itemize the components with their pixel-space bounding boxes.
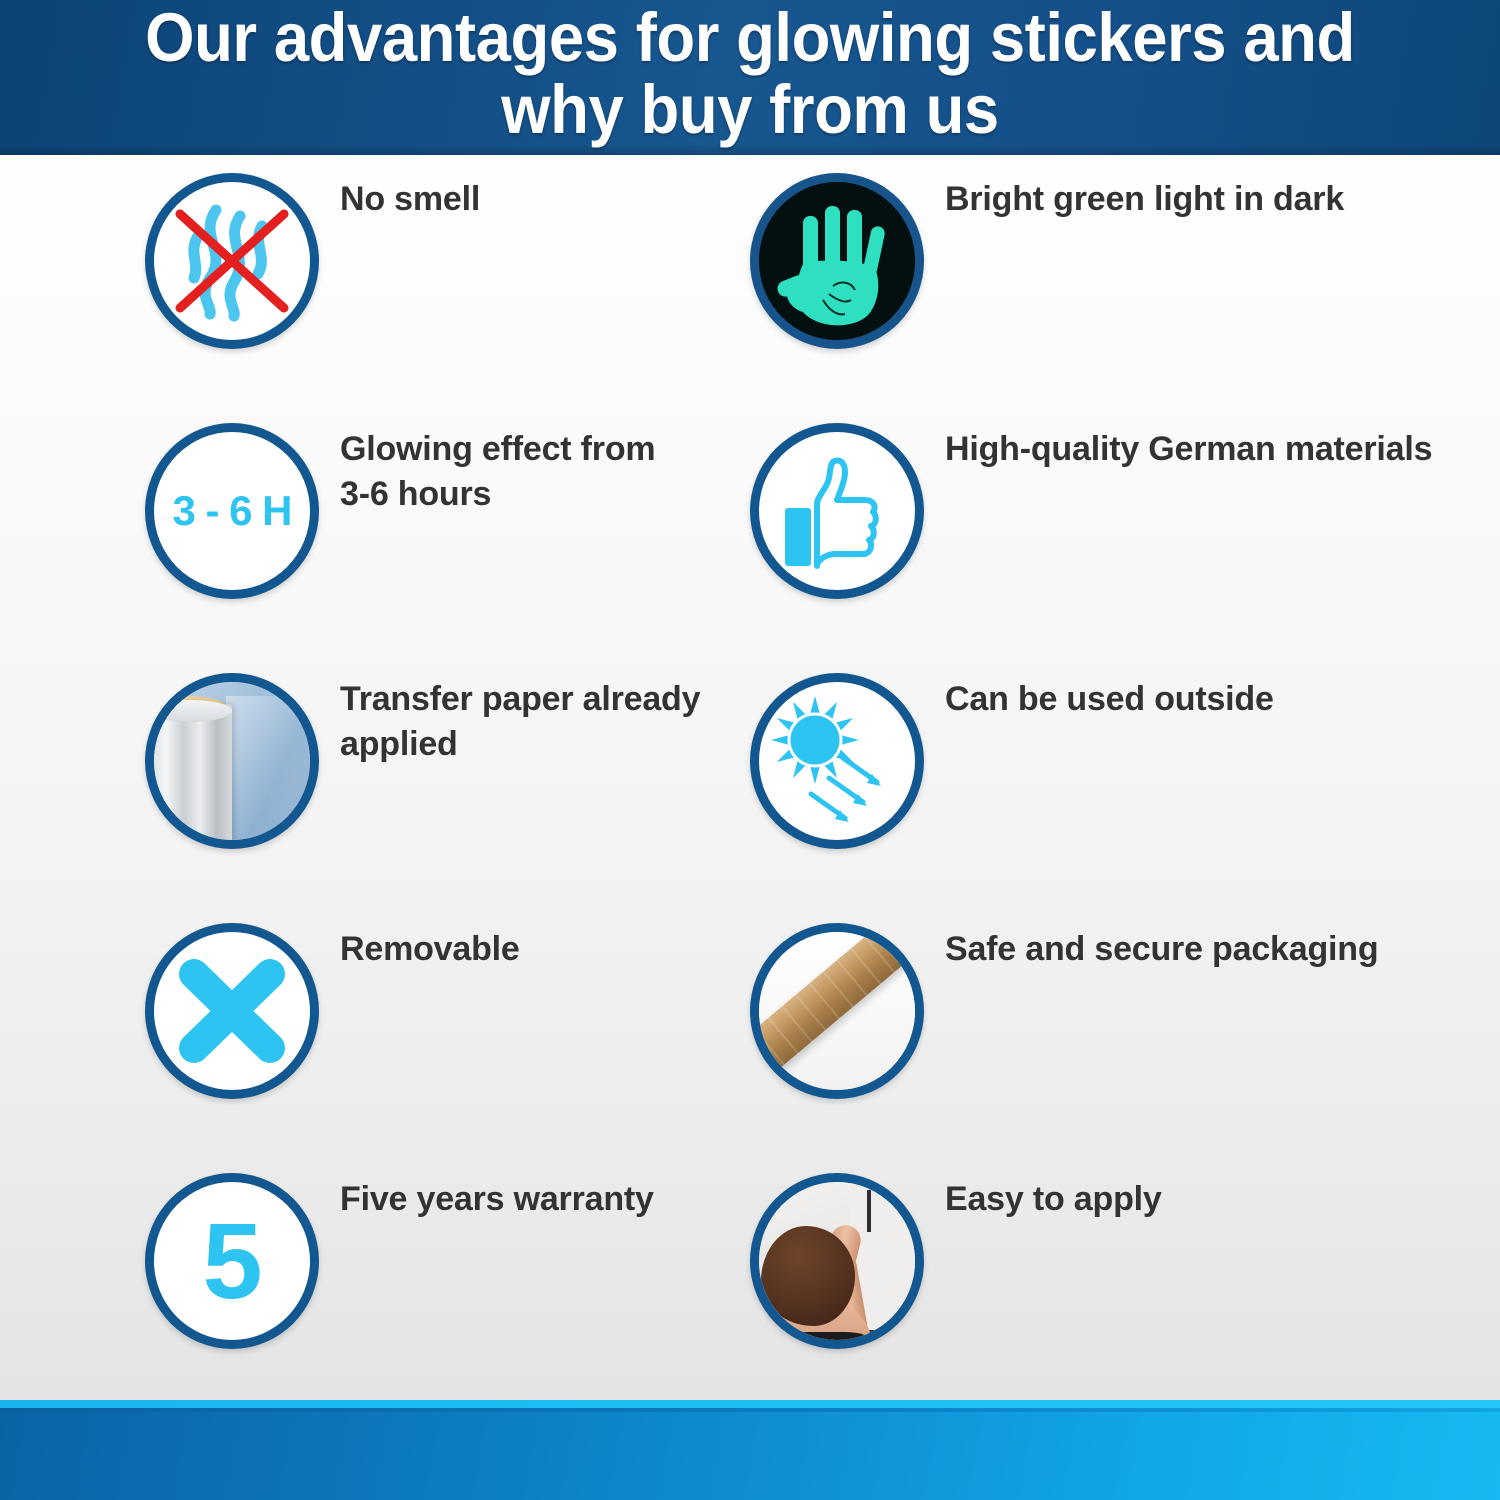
advantage-item-five-years-warranty: 5 Five years warranty bbox=[145, 1155, 845, 1405]
advantage-item-german-materials: High-quality German materials bbox=[750, 405, 1450, 655]
header-banner: Our advantages for glowing stickers and … bbox=[0, 0, 1500, 155]
handprint-glyph bbox=[759, 182, 915, 340]
decal-hanger bbox=[867, 1190, 871, 1232]
cross-x-icon bbox=[145, 923, 319, 1099]
advantage-row: Removable Safe and secure packaging bbox=[0, 905, 1500, 1155]
footer-top-edge bbox=[0, 1400, 1500, 1408]
woman-applying-decal-photo bbox=[750, 1173, 924, 1349]
hours-badge-text: 3 - 6 H bbox=[154, 432, 310, 590]
advantage-item-transfer-paper: Transfer paper already applied bbox=[145, 655, 845, 905]
roll-body bbox=[148, 704, 232, 849]
header-bottom-shade bbox=[0, 145, 1500, 155]
roll-top-edge bbox=[148, 700, 232, 722]
advantage-label: Bright green light in dark bbox=[945, 177, 1500, 222]
cross-x-glyph bbox=[154, 932, 310, 1090]
mailing-tube-photo bbox=[750, 923, 924, 1099]
hours-badge-icon: 3 - 6 H bbox=[145, 423, 319, 599]
no-smell-icon bbox=[145, 173, 319, 349]
number-five-text: 5 bbox=[154, 1182, 310, 1340]
glowing-handprint-icon bbox=[750, 173, 924, 349]
footer-seam bbox=[0, 1408, 1500, 1412]
advantages-grid: No smell bbox=[0, 155, 1500, 1400]
no-smell-glyph bbox=[154, 182, 310, 340]
thumbs-up-icon bbox=[750, 423, 924, 599]
advantage-item-easy-to-apply: Easy to apply bbox=[750, 1155, 1450, 1405]
advantage-label: High-quality German materials bbox=[945, 427, 1500, 472]
advantage-label: Safe and secure packaging bbox=[945, 927, 1500, 972]
black-top bbox=[773, 1332, 873, 1349]
advantage-item-glowing-hours: 3 - 6 H Glowing effect from 3-6 hours bbox=[145, 405, 845, 655]
hair bbox=[761, 1226, 855, 1326]
advantage-item-removable: Removable bbox=[145, 905, 845, 1155]
footer-banner bbox=[0, 1400, 1500, 1500]
sun-rays-glyph bbox=[759, 682, 915, 840]
advantage-label: Can be used outside bbox=[945, 677, 1500, 722]
advantage-row: Transfer paper already applied bbox=[0, 655, 1500, 905]
advantage-item-used-outside: Can be used outside bbox=[750, 655, 1450, 905]
sun-with-rays-icon bbox=[750, 673, 924, 849]
page-title: Our advantages for glowing stickers and … bbox=[60, 2, 1440, 146]
advantage-item-no-smell: No smell bbox=[145, 155, 845, 405]
advantage-row: 5 Five years warranty bbox=[0, 1155, 1500, 1405]
roll-sheet bbox=[226, 696, 319, 849]
advantage-label: Easy to apply bbox=[945, 1177, 1500, 1222]
advantage-item-secure-packaging: Safe and secure packaging bbox=[750, 905, 1450, 1155]
infographic-page: Our advantages for glowing stickers and … bbox=[0, 0, 1500, 1500]
number-five-icon: 5 bbox=[145, 1173, 319, 1349]
thumbs-up-glyph bbox=[759, 432, 915, 590]
transfer-paper-roll-photo bbox=[145, 673, 319, 849]
advantage-row: 3 - 6 H Glowing effect from 3-6 hours bbox=[0, 405, 1500, 655]
advantage-item-bright-green-light: Bright green light in dark bbox=[750, 155, 1450, 405]
advantage-row: No smell bbox=[0, 155, 1500, 405]
